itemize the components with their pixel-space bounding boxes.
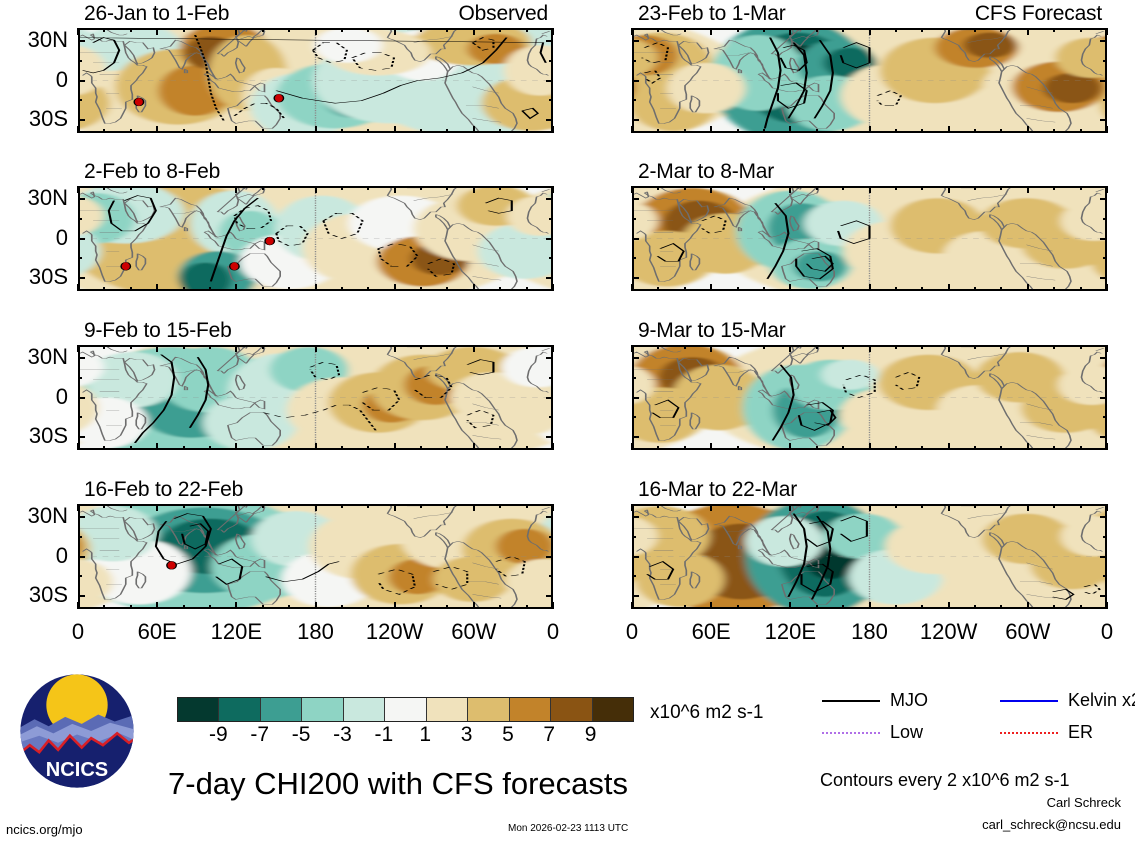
y-axis-label: 30S <box>0 264 68 290</box>
colorbar-swatch <box>509 698 550 721</box>
panel-title: 2-Mar to 8-Mar <box>638 160 774 184</box>
column-header: CFS Forecast <box>975 2 1102 26</box>
legend-label: MJO <box>890 690 928 711</box>
map-panel <box>632 504 1107 609</box>
x-axis-tick-label: 120E <box>211 619 262 645</box>
colorbar-tick-label: -9 <box>209 723 228 747</box>
colorbar-tick-label: -5 <box>292 723 311 747</box>
legend-line-mjo <box>822 700 880 702</box>
colorbar-tick-label: 1 <box>419 723 431 747</box>
x-axis-tick-label: 120W <box>366 619 423 645</box>
colorbar-swatch <box>178 698 218 721</box>
y-axis-label: 30S <box>0 106 68 132</box>
panel-title: 9-Mar to 15-Mar <box>638 319 786 343</box>
ncics-logo[interactable]: NCICS <box>18 672 136 790</box>
colorbar-swatch <box>426 698 467 721</box>
y-axis-label: 0 <box>0 225 68 251</box>
y-axis-label: 30N <box>0 185 68 211</box>
x-axis-tick-label: 180 <box>851 619 888 645</box>
colorbar-tick-label: -1 <box>374 723 393 747</box>
legend-line-kelvin-x2 <box>1000 700 1058 702</box>
colorbar-tick-label: 9 <box>585 723 597 747</box>
colorbar-tick-label: 7 <box>543 723 555 747</box>
colorbar-units-label: x10^6 m2 s-1 <box>650 702 763 724</box>
colorbar-swatch <box>384 698 425 721</box>
map-panel <box>78 186 553 291</box>
ncics-site-link[interactable]: ncics.org/mjo <box>6 822 83 837</box>
panel-title: 2-Feb to 8-Feb <box>84 160 220 184</box>
legend-line-low <box>822 732 880 734</box>
y-axis-label: 0 <box>0 384 68 410</box>
colorbar <box>177 697 634 722</box>
y-axis-label: 0 <box>0 543 68 569</box>
page-title: 7-day CHI200 with CFS forecasts <box>168 766 628 802</box>
map-panel <box>78 345 553 450</box>
contour-interval-note: Contours every 2 x10^6 m2 s-1 <box>820 770 1070 791</box>
colorbar-swatch <box>218 698 259 721</box>
x-axis-tick-label: 0 <box>72 619 84 645</box>
run-timestamp: Mon 2026-02-23 1113 UTC <box>508 823 628 834</box>
colorbar-swatch <box>343 698 384 721</box>
panel-title: 9-Feb to 15-Feb <box>84 319 232 343</box>
x-axis-tick-label: 120E <box>765 619 816 645</box>
y-axis-label: 30S <box>0 423 68 449</box>
colorbar-tick-label: 3 <box>461 723 473 747</box>
y-axis-label: 30N <box>0 27 68 53</box>
y-axis-label: 30N <box>0 503 68 529</box>
map-panel <box>632 345 1107 450</box>
colorbar-swatch <box>260 698 301 721</box>
x-axis-tick-label: 120W <box>920 619 977 645</box>
panel-title: 16-Feb to 22-Feb <box>84 478 243 502</box>
x-axis-tick-label: 60E <box>692 619 731 645</box>
colorbar-swatch <box>467 698 508 721</box>
map-panel <box>632 186 1107 291</box>
legend-label: ER <box>1068 722 1093 743</box>
colorbar-swatch <box>301 698 342 721</box>
panel-title: 26-Jan to 1-Feb <box>84 2 229 26</box>
x-axis-tick-label: 60W <box>451 619 496 645</box>
map-panel <box>78 504 553 609</box>
colorbar-tick-label: -7 <box>250 723 269 747</box>
y-axis-label: 30N <box>0 344 68 370</box>
colorbar-tick-label: 5 <box>502 723 514 747</box>
column-header: Observed <box>459 2 548 26</box>
author-name: Carl Schreck <box>1047 795 1121 810</box>
x-axis-tick-label: 60W <box>1005 619 1050 645</box>
x-axis-left: 060E120E180120W60W0 <box>78 619 553 649</box>
svg-text:NCICS: NCICS <box>46 759 108 781</box>
x-axis-tick-label: 60E <box>138 619 177 645</box>
y-axis-label: 30S <box>0 582 68 608</box>
legend-label: Low <box>890 722 923 743</box>
x-axis-tick-label: 0 <box>1101 619 1113 645</box>
x-axis-tick-label: 0 <box>626 619 638 645</box>
colorbar-swatch <box>592 698 633 721</box>
x-axis-tick-label: 0 <box>547 619 559 645</box>
panel-title: 23-Feb to 1-Mar <box>638 2 786 26</box>
colorbar-swatch <box>550 698 591 721</box>
panel-title: 16-Mar to 22-Mar <box>638 478 797 502</box>
y-axis-label: 0 <box>0 67 68 93</box>
legend-label: Kelvin x2 <box>1068 690 1135 711</box>
colorbar-tick-label: -3 <box>333 723 352 747</box>
x-axis-right: 060E120E180120W60W0 <box>632 619 1107 649</box>
author-email[interactable]: carl_schreck@ncsu.edu <box>982 817 1121 832</box>
map-panel <box>78 28 553 133</box>
map-panel <box>632 28 1107 133</box>
x-axis-tick-label: 180 <box>297 619 334 645</box>
legend-line-er <box>1000 732 1058 734</box>
